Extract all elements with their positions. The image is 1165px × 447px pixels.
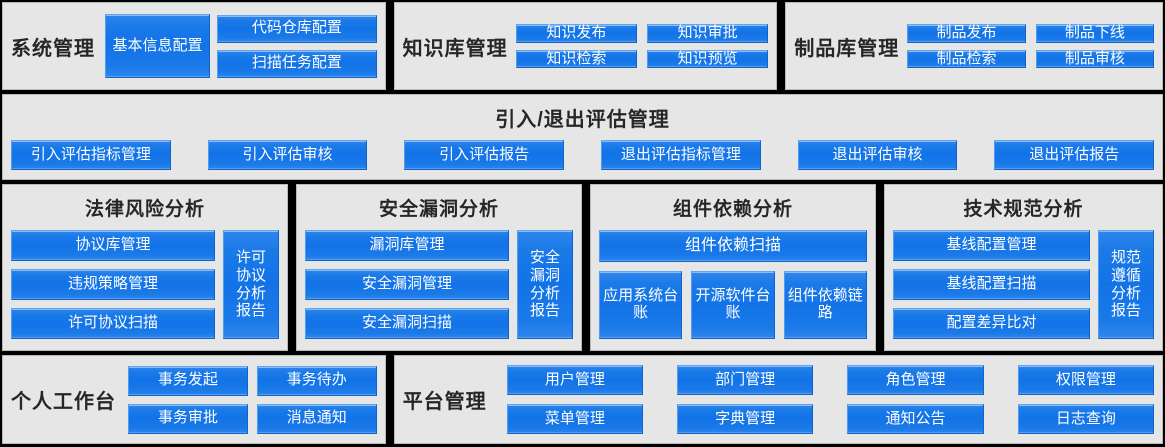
report-line-2: 协议 xyxy=(236,267,266,285)
panel-title-legal-risk-analysis: 法律风险分析 xyxy=(11,194,279,221)
button-role-management[interactable]: 角色管理 xyxy=(847,365,983,395)
security-vuln-body: 漏洞库管理 安全漏洞管理 安全漏洞扫描 安全 漏洞 分析 报告 xyxy=(305,230,573,339)
button-transaction-todo[interactable]: 事务待办 xyxy=(257,366,377,396)
button-vuln-library-mgmt[interactable]: 漏洞库管理 xyxy=(305,230,509,261)
report-line-3: 分析 xyxy=(1111,285,1141,303)
panel-system-management: 系统管理 基本信息配置 代码仓库配置 扫描任务配置 xyxy=(2,2,386,90)
button-knowledge-search[interactable]: 知识检索 xyxy=(516,50,637,69)
personal-column-2: 事务待办 消息通知 xyxy=(257,366,377,434)
button-log-query[interactable]: 日志查询 xyxy=(1018,404,1154,434)
button-transaction-initiate[interactable]: 事务发起 xyxy=(128,366,248,396)
panel-legal-risk-analysis: 法律风险分析 协议库管理 违规策略管理 许可协议扫描 许可 协议 分析 报告 xyxy=(2,184,288,351)
panel-personal-workbench: 个人工作台 事务发起 事务审批 事务待办 消息通知 xyxy=(2,355,386,444)
legal-risk-button-stack: 协议库管理 违规策略管理 许可协议扫描 xyxy=(11,230,215,339)
panel-title-product-repository-management: 制品库管理 xyxy=(794,32,899,61)
button-product-publish[interactable]: 制品发布 xyxy=(907,24,1025,43)
button-license-library-mgmt[interactable]: 协议库管理 xyxy=(11,230,215,261)
button-knowledge-preview[interactable]: 知识预览 xyxy=(647,50,768,69)
button-violation-policy-mgmt[interactable]: 违规策略管理 xyxy=(11,269,215,300)
button-intro-eval-report[interactable]: 引入评估报告 xyxy=(404,140,564,170)
report-line-1: 安全 xyxy=(530,249,560,267)
button-product-search[interactable]: 制品检索 xyxy=(907,50,1025,69)
system-management-button-column: 代码仓库配置 扫描任务配置 xyxy=(217,15,377,78)
platform-column-4: 权限管理 日志查询 xyxy=(1018,365,1154,434)
security-vuln-button-stack: 漏洞库管理 安全漏洞管理 安全漏洞扫描 xyxy=(305,230,509,339)
button-knowledge-approval[interactable]: 知识审批 xyxy=(647,24,768,43)
panel-platform-management: 平台管理 用户管理 菜单管理 部门管理 字典管理 角色管理 通知公告 权限管理 … xyxy=(394,355,1163,444)
button-department-management[interactable]: 部门管理 xyxy=(677,365,813,395)
panel-title-system-management: 系统管理 xyxy=(11,32,95,61)
product-column-1: 制品发布 制品检索 xyxy=(907,24,1025,69)
button-component-dependency-chain[interactable]: 组件依赖链路 xyxy=(784,271,867,339)
platform-column-2: 部门管理 字典管理 xyxy=(677,365,813,434)
button-notification-announcement[interactable]: 通知公告 xyxy=(847,404,983,434)
panel-knowledge-base-management: 知识库管理 知识发布 知识检索 知识审批 知识预览 xyxy=(394,2,778,90)
panel-security-vulnerability-analysis: 安全漏洞分析 漏洞库管理 安全漏洞管理 安全漏洞扫描 安全 漏洞 分析 报告 xyxy=(296,184,582,351)
button-message-notification[interactable]: 消息通知 xyxy=(257,404,377,434)
button-baseline-config-mgmt[interactable]: 基线配置管理 xyxy=(893,230,1090,261)
report-line-3: 分析 xyxy=(236,285,266,303)
button-dictionary-management[interactable]: 字典管理 xyxy=(677,404,813,434)
row-bottom: 个人工作台 事务发起 事务审批 事务待办 消息通知 平台管理 用户管理 菜单管理 xyxy=(2,355,1163,444)
button-transaction-approval[interactable]: 事务审批 xyxy=(128,404,248,434)
button-code-repo-config[interactable]: 代码仓库配置 xyxy=(217,15,377,43)
button-permission-management[interactable]: 权限管理 xyxy=(1018,365,1154,395)
button-component-dependency-scan[interactable]: 组件依赖扫描 xyxy=(599,230,867,262)
platform-management-buttons: 用户管理 菜单管理 部门管理 字典管理 角色管理 通知公告 权限管理 日志查询 xyxy=(507,365,1154,434)
button-product-offline[interactable]: 制品下线 xyxy=(1036,24,1154,43)
button-knowledge-publish[interactable]: 知识发布 xyxy=(516,24,637,43)
panel-title-knowledge-base-management: 知识库管理 xyxy=(403,32,508,61)
personal-column-1: 事务发起 事务审批 xyxy=(128,366,248,434)
button-menu-management[interactable]: 菜单管理 xyxy=(507,404,643,434)
product-column-2: 制品下线 制品审核 xyxy=(1036,24,1154,69)
row-evaluation: 引入/退出评估管理 引入评估指标管理 引入评估审核 引入评估报告 退出评估指标管… xyxy=(2,94,1163,180)
panel-title-platform-management: 平台管理 xyxy=(403,385,487,414)
technical-spec-button-stack: 基线配置管理 基线配置扫描 配置差异比对 xyxy=(893,230,1090,339)
knowledge-column-1: 知识发布 知识检索 xyxy=(516,24,637,69)
button-exit-eval-report[interactable]: 退出评估报告 xyxy=(994,140,1154,170)
panel-title-personal-workbench: 个人工作台 xyxy=(11,385,116,414)
evaluation-buttons: 引入评估指标管理 引入评估审核 引入评估报告 退出评估指标管理 退出评估审核 退… xyxy=(11,140,1154,170)
button-basic-info-config[interactable]: 基本信息配置 xyxy=(105,14,210,78)
component-dependency-body: 组件依赖扫描 应用系统台账 开源软件台账 组件依赖链路 xyxy=(599,230,867,339)
panel-component-dependency-analysis: 组件依赖分析 组件依赖扫描 应用系统台账 开源软件台账 组件依赖链路 xyxy=(590,184,876,351)
row-analysis: 法律风险分析 协议库管理 违规策略管理 许可协议扫描 许可 协议 分析 报告 xyxy=(2,184,1163,351)
platform-column-1: 用户管理 菜单管理 xyxy=(507,365,643,434)
panel-technical-specification-analysis: 技术规范分析 基线配置管理 基线配置扫描 配置差异比对 规范 遵循 分析 报告 xyxy=(884,184,1163,351)
button-intro-eval-indicator-mgmt[interactable]: 引入评估指标管理 xyxy=(11,140,171,170)
button-license-analysis-report[interactable]: 许可 协议 分析 报告 xyxy=(223,230,279,339)
button-product-audit[interactable]: 制品审核 xyxy=(1036,50,1154,69)
knowledge-base-buttons: 知识发布 知识检索 知识审批 知识预览 xyxy=(516,24,769,69)
button-baseline-config-scan[interactable]: 基线配置扫描 xyxy=(893,269,1090,300)
panel-introduce-exit-evaluation: 引入/退出评估管理 引入评估指标管理 引入评估审核 引入评估报告 退出评估指标管… xyxy=(2,94,1163,180)
button-exit-eval-audit[interactable]: 退出评估审核 xyxy=(798,140,958,170)
button-scan-task-config[interactable]: 扫描任务配置 xyxy=(217,50,377,78)
report-line-4: 报告 xyxy=(1111,302,1141,320)
report-line-4: 报告 xyxy=(530,302,560,320)
button-intro-eval-audit[interactable]: 引入评估审核 xyxy=(208,140,368,170)
button-security-vuln-analysis-report[interactable]: 安全 漏洞 分析 报告 xyxy=(517,230,573,339)
system-management-buttons: 基本信息配置 代码仓库配置 扫描任务配置 xyxy=(105,14,377,78)
diagram-root: 系统管理 基本信息配置 代码仓库配置 扫描任务配置 知识库管理 知识发布 知识检… xyxy=(0,0,1165,447)
report-line-2: 遵循 xyxy=(1111,267,1141,285)
panel-title-component-dependency-analysis: 组件依赖分析 xyxy=(599,194,867,221)
panel-product-repository-management: 制品库管理 制品发布 制品检索 制品下线 制品审核 xyxy=(785,2,1163,90)
button-license-agreement-scan[interactable]: 许可协议扫描 xyxy=(11,308,215,339)
platform-column-3: 角色管理 通知公告 xyxy=(847,365,983,434)
button-config-difference-compare[interactable]: 配置差异比对 xyxy=(893,308,1090,339)
button-exit-eval-indicator-mgmt[interactable]: 退出评估指标管理 xyxy=(601,140,761,170)
panel-title-security-vulnerability-analysis: 安全漏洞分析 xyxy=(305,194,573,221)
button-application-system-ledger[interactable]: 应用系统台账 xyxy=(599,271,682,339)
row-top: 系统管理 基本信息配置 代码仓库配置 扫描任务配置 知识库管理 知识发布 知识检… xyxy=(2,2,1163,90)
button-user-management[interactable]: 用户管理 xyxy=(507,365,643,395)
button-security-vuln-mgmt[interactable]: 安全漏洞管理 xyxy=(305,269,509,300)
legal-risk-body: 协议库管理 违规策略管理 许可协议扫描 许可 协议 分析 报告 xyxy=(11,230,279,339)
button-spec-compliance-analysis-report[interactable]: 规范 遵循 分析 报告 xyxy=(1098,230,1154,339)
report-line-1: 规范 xyxy=(1111,249,1141,267)
panel-title-technical-specification-analysis: 技术规范分析 xyxy=(893,194,1154,221)
report-line-3: 分析 xyxy=(530,285,560,303)
product-repository-buttons: 制品发布 制品检索 制品下线 制品审核 xyxy=(907,24,1154,69)
report-line-2: 漏洞 xyxy=(530,267,560,285)
technical-spec-body: 基线配置管理 基线配置扫描 配置差异比对 规范 遵循 分析 报告 xyxy=(893,230,1154,339)
report-line-4: 报告 xyxy=(236,302,266,320)
knowledge-column-2: 知识审批 知识预览 xyxy=(647,24,768,69)
panel-title-introduce-exit-evaluation: 引入/退出评估管理 xyxy=(11,103,1154,132)
button-opensource-software-ledger[interactable]: 开源软件台账 xyxy=(691,271,774,339)
personal-workbench-buttons: 事务发起 事务审批 事务待办 消息通知 xyxy=(128,366,377,434)
component-dependency-cells: 应用系统台账 开源软件台账 组件依赖链路 xyxy=(599,271,867,339)
report-line-1: 许可 xyxy=(236,249,266,267)
button-security-vuln-scan[interactable]: 安全漏洞扫描 xyxy=(305,308,509,339)
